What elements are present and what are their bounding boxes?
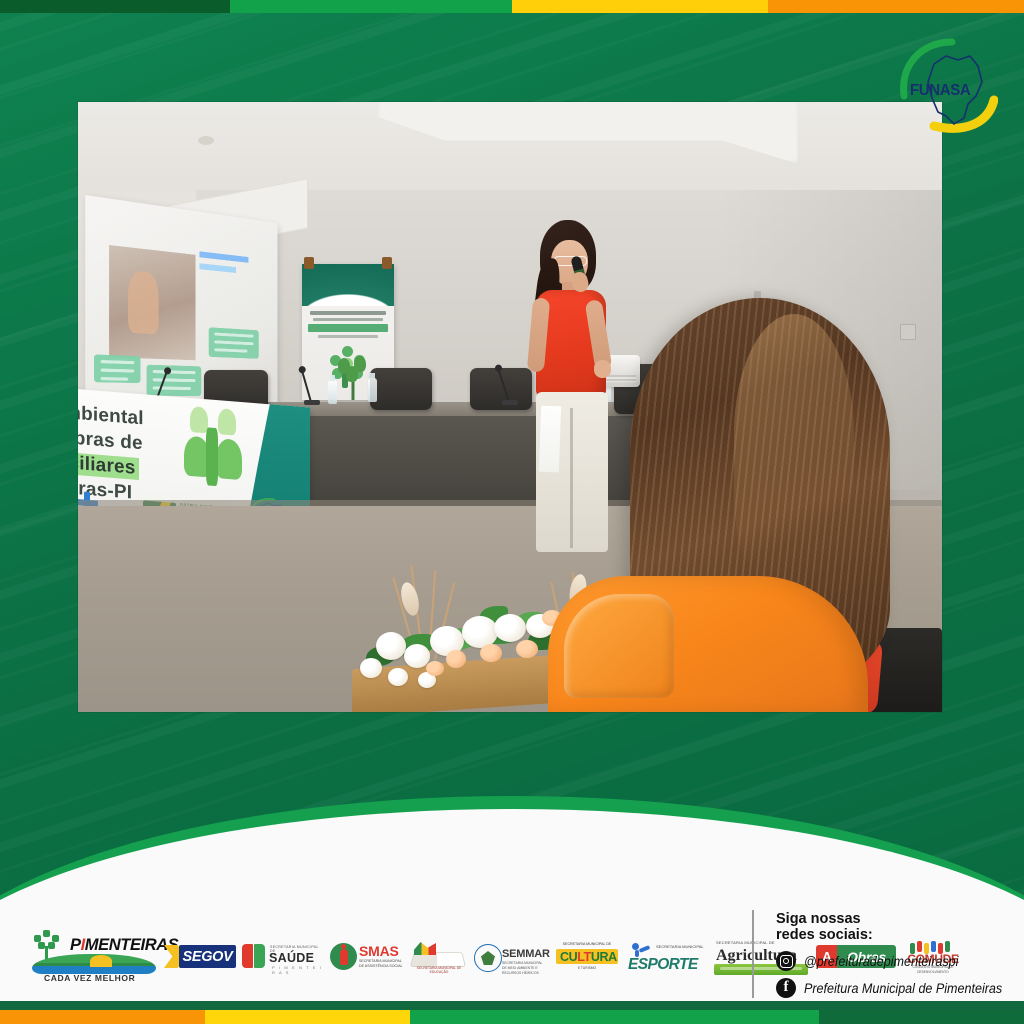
social-title-line1: Siga nossas	[776, 911, 1020, 927]
logo-top-line: SECRETARIA MUNICIPAL	[656, 944, 704, 950]
skirt-text-line3: iciliares	[78, 452, 139, 480]
logo-secretaria-saude[interactable]: SECRETARIA MUNICIPAL DE SAÚDE P I M E N …	[242, 940, 324, 974]
strip-segment-dark-green	[819, 1010, 1024, 1024]
funasa-logo: FUNASA	[898, 38, 998, 134]
funasa-wordmark: FUNASA	[910, 82, 970, 100]
logo-semmar[interactable]: SEMMAR SECRETARIA MUNICIPAL DE MEIO AMBI…	[474, 941, 548, 973]
top-color-strip	[0, 0, 1024, 13]
chair	[370, 368, 432, 410]
logo-subtitle: CADA VEZ MELHOR	[44, 973, 135, 983]
leaf-circle-icon	[474, 944, 502, 972]
plant-decor	[332, 354, 374, 400]
logo-smas[interactable]: SMAS SECRETARIA MUNICIPAL DE ASSISTÊNCIA…	[330, 940, 404, 974]
ceiling-fixture	[198, 136, 214, 145]
audience-sleeve-ruffle	[564, 594, 674, 698]
audience-person-foreground	[558, 298, 942, 712]
white-rose	[360, 658, 382, 678]
audience-hair-highlight	[734, 314, 854, 614]
logo-title: CULTURA	[560, 950, 617, 964]
hand-icon-red	[242, 944, 253, 968]
strip-segment-green	[410, 1010, 820, 1024]
footer-green-line	[0, 1001, 1024, 1010]
white-rose	[376, 632, 406, 660]
logo-bottom-line: E TURISMO	[554, 966, 620, 970]
slide-bar	[199, 263, 236, 273]
strip-segment-yellow	[512, 0, 768, 13]
slide-callout	[147, 365, 202, 396]
rollup-title-line2	[313, 318, 383, 321]
logo-segov[interactable]: SEGOV	[164, 943, 236, 971]
logo-subtitle: SECRETARIA MUNICIPAL DE EDUCAÇÃO	[410, 966, 468, 974]
peach-rose	[446, 650, 466, 668]
strip-segment-orange	[0, 1010, 205, 1024]
bottom-color-strip	[0, 1010, 1024, 1024]
peach-rose	[480, 644, 502, 662]
rollup-title-line3	[308, 324, 388, 332]
logo-prefeitura-pimenteiras[interactable]: PIMENTEIRAS CADA VEZ MELHOR	[30, 928, 158, 986]
peach-rose	[426, 661, 444, 676]
logo-top-line: SECRETARIA MUNICIPAL DE	[716, 940, 775, 945]
logo-title: PIMENTEIRAS	[70, 936, 178, 955]
logo-bottom-line: P I M E N T E I R A S	[272, 965, 324, 975]
logo-esporte[interactable]: SECRETARIA MUNICIPAL ESPORTE	[626, 940, 706, 974]
person-icon	[330, 943, 357, 970]
rollup-pole-left	[304, 257, 314, 269]
slide-photo	[109, 245, 195, 360]
logo-title: SEGOV	[182, 949, 232, 965]
strip-segment-orange	[768, 0, 1024, 13]
facebook-icon[interactable]: f	[776, 978, 796, 998]
facebook-row[interactable]: f Prefeitura Municipal de Pimenteiras	[776, 978, 1020, 998]
social-title: Siga nossas redes sociais:	[776, 911, 1020, 943]
slide-callout	[209, 327, 259, 359]
logo-title: SEMMAR	[502, 948, 550, 960]
microphone-base	[304, 400, 320, 405]
footer-divider	[752, 910, 754, 998]
strip-segment-green	[230, 0, 512, 13]
logo-subtitle: SECRETARIA MUNICIPAL DE ASSISTÊNCIA SOCI…	[359, 959, 403, 970]
logo-secretaria-educacao[interactable]: SECRETARIA MUNICIPAL DE EDUCAÇÃO	[410, 941, 468, 973]
logo-top-line: SECRETARIA MUNICIPAL DE	[554, 942, 620, 946]
instagram-handle: @prefeituradepimenteiraspi	[804, 954, 958, 969]
partner-logo-row: PIMENTEIRAS CADA VEZ MELHOR SEGOV SECRET…	[30, 926, 742, 988]
rollup-arc	[302, 264, 394, 306]
white-rose	[388, 668, 408, 686]
poster-root: FUNASA	[0, 0, 1024, 1024]
logo-title: SAÚDE	[269, 951, 314, 965]
logo-title: SMAS	[359, 943, 399, 959]
logo-subtitle: SECRETARIA MUNICIPAL DE MEIO AMBIENTE E …	[502, 961, 546, 976]
skirt-text-line2: obras de	[78, 427, 143, 455]
strip-segment-yellow	[205, 1010, 410, 1024]
social-block: Siga nossas redes sociais: @prefeiturade…	[776, 911, 1020, 998]
rollup-pole-right	[382, 257, 392, 269]
skirt-text-line1: mbiental	[78, 402, 144, 430]
athlete-icon	[630, 941, 652, 957]
instagram-row[interactable]: @prefeituradepimenteiraspi	[776, 951, 1020, 971]
facebook-page: Prefeitura Municipal de Pimenteiras	[804, 981, 1002, 996]
peach-rose	[516, 640, 538, 658]
white-rose	[494, 614, 526, 642]
slide-callout	[94, 354, 141, 383]
hand-icon-green	[254, 944, 265, 968]
social-title-line2: redes sociais:	[776, 927, 1020, 943]
rollup-title-line1	[310, 311, 386, 315]
rollup-title-line4	[318, 335, 378, 338]
logo-cultura-turismo[interactable]: SECRETARIA MUNICIPAL DE CULTURA E TURISM…	[554, 941, 620, 973]
logo-title: ESPORTE	[628, 956, 698, 974]
event-photo: mbiental obras de iciliares eiras-PI PÁT…	[78, 102, 942, 712]
sun-icon	[90, 955, 112, 967]
instagram-icon[interactable]	[776, 951, 796, 971]
strip-segment-dark-green	[0, 0, 230, 13]
slide-bar	[199, 251, 248, 262]
flag-icon	[414, 942, 436, 955]
skirt-leaf-graphic	[178, 405, 250, 497]
